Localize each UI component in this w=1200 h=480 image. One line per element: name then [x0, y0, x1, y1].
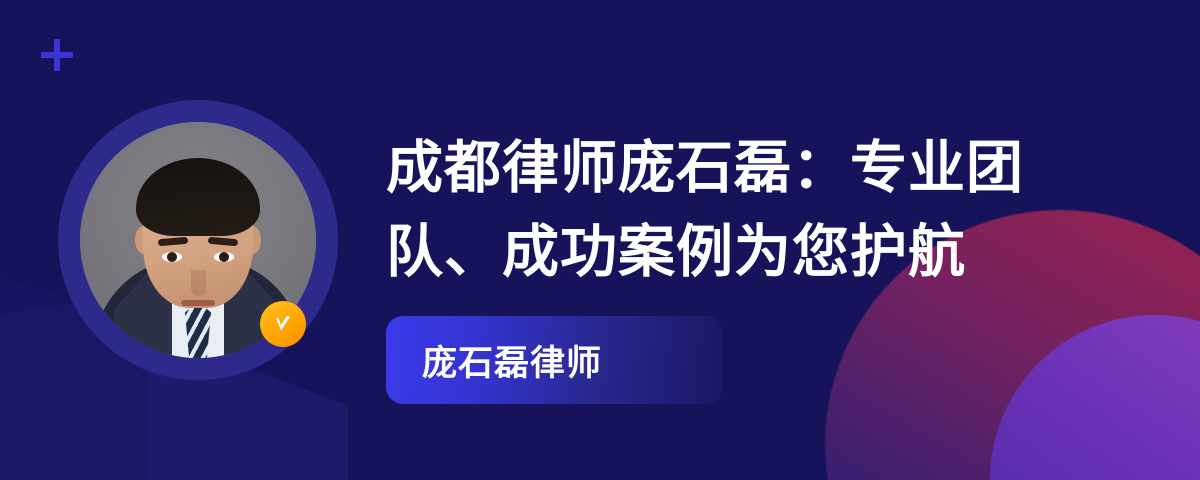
portrait-eye-right	[214, 252, 234, 262]
headline-line-2: 队、成功案例为您护航	[386, 210, 1086, 294]
lawyer-name-chip[interactable]: 庞石磊律师	[386, 316, 723, 404]
portrait-hair	[136, 158, 260, 236]
portrait-necktie	[185, 302, 211, 358]
banner-content: 成都律师庞石磊：专业团 队、成功案例为您护航 庞石磊律师	[386, 126, 1086, 404]
portrait-mouth	[181, 300, 215, 306]
plus-icon-vertical-bar	[54, 39, 60, 71]
portrait-eye-left	[162, 252, 182, 262]
portrait-nose	[191, 270, 206, 296]
lawyer-profile-banner: 成都律师庞石磊：专业团 队、成功案例为您护航 庞石磊律师	[0, 0, 1200, 480]
lawyer-name-label: 庞石磊律师	[386, 335, 602, 386]
verified-badge-icon	[260, 301, 306, 347]
plus-icon	[41, 39, 73, 71]
avatar[interactable]	[58, 100, 338, 380]
headline-line-1: 成都律师庞石磊：专业团	[386, 126, 1086, 210]
